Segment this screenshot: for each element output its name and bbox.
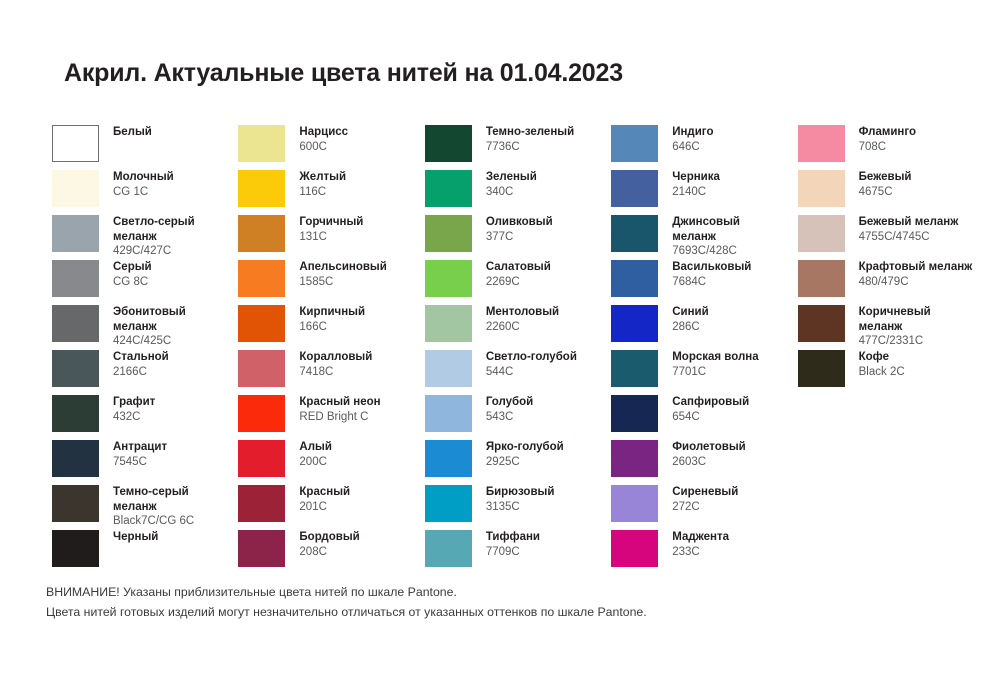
swatch-text: Синий286C	[672, 305, 708, 334]
swatch-text: Бирюзовый3135C	[486, 485, 555, 514]
color-swatch[interactable]	[611, 350, 658, 387]
column-greens: Темно-зеленый7736CЗеленый340CОливковый37…	[425, 125, 611, 575]
swatch-row[interactable]: Светло-голубой544C	[425, 350, 611, 395]
swatch-text: Оливковый377C	[486, 215, 553, 244]
color-swatch[interactable]	[425, 350, 472, 387]
disclaimer-line-2: Цвета нитей готовых изделий могут незнач…	[46, 602, 647, 622]
swatch-row[interactable]: Фламинго708C	[798, 125, 984, 170]
swatch-text: Фламинго708C	[859, 125, 916, 154]
swatch-text: Нарцисс600C	[299, 125, 348, 154]
swatch-row[interactable]: Голубой543C	[425, 395, 611, 440]
color-swatch[interactable]	[425, 395, 472, 432]
color-chart-page: Акрил. Актуальные цвета нитей на 01.04.2…	[0, 0, 1000, 683]
swatch-text: Кирпичный166C	[299, 305, 365, 334]
swatch-code: 480/479C	[859, 275, 973, 290]
swatch-text: КофеBlack 2C	[859, 350, 905, 379]
swatch-code: 7736C	[486, 140, 574, 155]
swatch-code: 116C	[299, 185, 346, 200]
color-swatch[interactable]	[238, 485, 285, 522]
swatch-name: Кирпичный	[299, 305, 365, 320]
color-swatch[interactable]	[798, 125, 845, 162]
swatch-text: Эбонитовый меланж424C/425C	[113, 305, 223, 349]
swatch-text: Зеленый340C	[486, 170, 537, 199]
color-swatch[interactable]	[798, 350, 845, 387]
swatch-name: Ментоловый	[486, 305, 559, 320]
swatch-name: Индиго	[672, 125, 713, 140]
swatch-text: Васильковый7684C	[672, 260, 751, 289]
color-swatch[interactable]	[52, 395, 99, 432]
swatch-text: Маджента233C	[672, 530, 729, 559]
swatch-code: 7709C	[486, 545, 540, 560]
swatch-name: Оливковый	[486, 215, 553, 230]
disclaimer-note: ВНИМАНИЕ! Указаны приблизительные цвета …	[46, 582, 647, 622]
swatch-name: Алый	[299, 440, 332, 455]
swatch-row[interactable]: Стальной2166C	[52, 350, 238, 395]
column-neutrals: БелыйМолочныйCG 1CСветло-серый меланж429…	[52, 125, 238, 575]
swatch-row[interactable]: Ментоловый2260C	[425, 305, 611, 350]
swatch-code: 2603C	[672, 455, 746, 470]
color-swatch[interactable]	[798, 170, 845, 207]
swatch-text: Графит432C	[113, 395, 155, 424]
swatch-row[interactable]: Графит432C	[52, 395, 238, 440]
swatch-row[interactable]: Оливковый377C	[425, 215, 611, 260]
swatch-text: Коралловый7418C	[299, 350, 372, 379]
swatch-row[interactable]: Темно-зеленый7736C	[425, 125, 611, 170]
color-swatch[interactable]	[425, 215, 472, 252]
swatch-code: 708C	[859, 140, 916, 155]
swatch-row[interactable]: Тиффани7709C	[425, 530, 611, 575]
swatch-text: Горчичный131C	[299, 215, 363, 244]
swatch-text: Антрацит7545C	[113, 440, 167, 469]
swatch-code: 7545C	[113, 455, 167, 470]
swatch-row[interactable]: Коралловый7418C	[238, 350, 424, 395]
swatch-row[interactable]: Черника2140C	[611, 170, 797, 215]
swatch-text: Бежевый4675C	[859, 170, 912, 199]
color-swatch[interactable]	[52, 305, 99, 342]
color-swatch[interactable]	[238, 215, 285, 252]
color-swatch[interactable]	[611, 125, 658, 162]
swatch-text: Светло-серый меланж429C/427C	[113, 215, 223, 259]
swatch-name: Сапфировый	[672, 395, 749, 410]
swatch-name: Бежевый меланж	[859, 215, 969, 230]
color-swatch[interactable]	[52, 125, 99, 162]
swatch-name: Желтый	[299, 170, 346, 185]
swatch-code: 208C	[299, 545, 359, 560]
swatch-row[interactable]: Белый	[52, 125, 238, 170]
swatch-name: Темно-зеленый	[486, 125, 574, 140]
color-swatch[interactable]	[611, 440, 658, 477]
swatch-row[interactable]: Салатовый2269C	[425, 260, 611, 305]
swatch-row[interactable]: Бежевый4675C	[798, 170, 984, 215]
color-swatch[interactable]	[798, 305, 845, 342]
swatch-code: 654C	[672, 410, 749, 425]
color-swatch[interactable]	[425, 260, 472, 297]
swatch-text: Голубой543C	[486, 395, 533, 424]
color-swatch[interactable]	[425, 305, 472, 342]
swatch-text: Красный неонRED Bright C	[299, 395, 380, 424]
swatch-name: Васильковый	[672, 260, 751, 275]
swatch-name: Светло-серый меланж	[113, 215, 223, 244]
swatch-row[interactable]: Светло-серый меланж429C/427C	[52, 215, 238, 260]
color-swatch[interactable]	[238, 395, 285, 432]
color-swatch[interactable]	[798, 260, 845, 297]
swatch-text: Тиффани7709C	[486, 530, 540, 559]
color-swatch[interactable]	[52, 170, 99, 207]
swatch-name: Фиолетовый	[672, 440, 746, 455]
color-swatch[interactable]	[611, 170, 658, 207]
swatch-name: Голубой	[486, 395, 533, 410]
column-blues: Индиго646CЧерника2140CДжинсовый меланж76…	[611, 125, 797, 575]
color-swatch[interactable]	[425, 440, 472, 477]
swatch-code: 2166C	[113, 365, 169, 380]
swatch-text: Крафтовый меланж480/479C	[859, 260, 973, 289]
swatch-code: 166C	[299, 320, 365, 335]
swatch-row[interactable]: Эбонитовый меланж424C/425C	[52, 305, 238, 350]
swatch-row[interactable]: Ярко-голубой2925C	[425, 440, 611, 485]
swatch-row[interactable]: Зеленый340C	[425, 170, 611, 215]
color-swatch[interactable]	[611, 395, 658, 432]
swatch-code: 477C/2331C	[859, 334, 969, 349]
swatch-name: Фламинго	[859, 125, 916, 140]
color-swatch[interactable]	[52, 485, 99, 522]
swatch-text: Темно-серый меланжBlack7C/CG 6C	[113, 485, 223, 529]
swatch-name: Молочный	[113, 170, 174, 185]
swatch-code: 543C	[486, 410, 533, 425]
swatch-name: Черный	[113, 530, 158, 545]
swatch-row[interactable]: Синий286C	[611, 305, 797, 350]
color-swatch[interactable]	[798, 215, 845, 252]
swatch-name: Бордовый	[299, 530, 359, 545]
swatch-row[interactable]: Джинсовый меланж7693C/428C	[611, 215, 797, 260]
swatch-name: Зеленый	[486, 170, 537, 185]
swatch-code: 2925C	[486, 455, 564, 470]
swatch-name: Бежевый	[859, 170, 912, 185]
swatch-name: Графит	[113, 395, 155, 410]
swatch-row[interactable]: Индиго646C	[611, 125, 797, 170]
swatch-code: Black7C/CG 6C	[113, 514, 223, 529]
swatch-code: 286C	[672, 320, 708, 335]
swatch-name: Горчичный	[299, 215, 363, 230]
swatch-code: 7684C	[672, 275, 751, 290]
swatch-name: Кофе	[859, 350, 905, 365]
swatch-text: Бордовый208C	[299, 530, 359, 559]
swatch-row[interactable]: Бирюзовый3135C	[425, 485, 611, 530]
swatch-row[interactable]: СерыйCG 8C	[52, 260, 238, 305]
swatch-text: МолочныйCG 1C	[113, 170, 174, 199]
color-swatch[interactable]	[52, 530, 99, 567]
swatch-name: Нарцисс	[299, 125, 348, 140]
swatch-row[interactable]: Маджента233C	[611, 530, 797, 575]
color-swatch[interactable]	[238, 530, 285, 567]
swatch-code: 233C	[672, 545, 729, 560]
swatch-name: Красный	[299, 485, 350, 500]
swatch-row[interactable]: Кирпичный166C	[238, 305, 424, 350]
swatch-code: 7701C	[672, 365, 758, 380]
swatch-code: 429C/427C	[113, 244, 223, 259]
column-skintones: Фламинго708CБежевый4675CБежевый меланж47…	[798, 125, 984, 575]
swatch-text: Апельсиновый1585C	[299, 260, 386, 289]
swatch-name: Тиффани	[486, 530, 540, 545]
swatch-code: 340C	[486, 185, 537, 200]
color-swatch[interactable]	[611, 215, 658, 252]
color-swatch[interactable]	[425, 485, 472, 522]
swatch-code: 201C	[299, 500, 350, 515]
swatch-code: CG 1C	[113, 185, 174, 200]
swatch-code: CG 8C	[113, 275, 152, 290]
swatch-text: Фиолетовый2603C	[672, 440, 746, 469]
swatch-code: 200C	[299, 455, 332, 470]
swatch-row[interactable]: Горчичный131C	[238, 215, 424, 260]
swatch-name: Эбонитовый меланж	[113, 305, 223, 334]
color-swatch[interactable]	[611, 305, 658, 342]
swatch-name: Коралловый	[299, 350, 372, 365]
swatch-code: 1585C	[299, 275, 386, 290]
swatch-text: Желтый116C	[299, 170, 346, 199]
swatch-name: Морская волна	[672, 350, 758, 365]
column-warm: Нарцисс600CЖелтый116CГорчичный131CАпельс…	[238, 125, 424, 575]
swatch-text: Сапфировый654C	[672, 395, 749, 424]
swatch-name: Черника	[672, 170, 720, 185]
swatch-text: Темно-зеленый7736C	[486, 125, 574, 154]
swatch-text: Стальной2166C	[113, 350, 169, 379]
color-swatch[interactable]	[611, 530, 658, 567]
swatch-code: 4755C/4745C	[859, 230, 969, 245]
swatch-text: Морская волна7701C	[672, 350, 758, 379]
swatch-code: 7693C/428C	[672, 244, 782, 259]
swatch-name: Белый	[113, 125, 152, 140]
color-swatch[interactable]	[425, 530, 472, 567]
swatch-code: 272C	[672, 500, 738, 515]
swatch-code: 432C	[113, 410, 155, 425]
swatch-name: Джинсовый меланж	[672, 215, 782, 244]
swatch-row[interactable]: Сапфировый654C	[611, 395, 797, 440]
swatch-name: Ярко-голубой	[486, 440, 564, 455]
swatch-code: 377C	[486, 230, 553, 245]
swatch-name: Серый	[113, 260, 152, 275]
color-swatch[interactable]	[425, 170, 472, 207]
color-swatch[interactable]	[52, 350, 99, 387]
swatch-row[interactable]: Коричневый меланж477C/2331C	[798, 305, 984, 350]
color-swatch[interactable]	[238, 170, 285, 207]
disclaimer-line-1: ВНИМАНИЕ! Указаны приблизительные цвета …	[46, 582, 647, 602]
swatch-row[interactable]: Красный201C	[238, 485, 424, 530]
swatch-row[interactable]: Красный неонRED Bright C	[238, 395, 424, 440]
swatch-text: Ментоловый2260C	[486, 305, 559, 334]
swatch-row[interactable]: Васильковый7684C	[611, 260, 797, 305]
swatch-code: 2140C	[672, 185, 720, 200]
color-swatch[interactable]	[52, 440, 99, 477]
swatch-text: Ярко-голубой2925C	[486, 440, 564, 469]
swatch-row[interactable]: Нарцисс600C	[238, 125, 424, 170]
swatch-row[interactable]: Апельсиновый1585C	[238, 260, 424, 305]
swatch-code: 2260C	[486, 320, 559, 335]
page-title: Акрил. Актуальные цвета нитей на 01.04.2…	[64, 59, 623, 88]
swatch-code: Black 2C	[859, 365, 905, 380]
swatch-row[interactable]: Бордовый208C	[238, 530, 424, 575]
swatch-text: СерыйCG 8C	[113, 260, 152, 289]
swatch-text: Белый	[113, 125, 152, 140]
swatch-text: Алый200C	[299, 440, 332, 469]
swatch-row[interactable]: Крафтовый меланж480/479C	[798, 260, 984, 305]
swatch-text: Сиреневый272C	[672, 485, 738, 514]
swatch-text: Светло-голубой544C	[486, 350, 577, 379]
swatch-row[interactable]: Желтый116C	[238, 170, 424, 215]
swatch-code: 131C	[299, 230, 363, 245]
swatch-text: Бежевый меланж4755C/4745C	[859, 215, 969, 244]
swatch-text: Красный201C	[299, 485, 350, 514]
color-swatch[interactable]	[52, 215, 99, 252]
swatch-text: Салатовый2269C	[486, 260, 551, 289]
swatch-name: Стальной	[113, 350, 169, 365]
swatch-name: Сиреневый	[672, 485, 738, 500]
swatch-row[interactable]: Бежевый меланж4755C/4745C	[798, 215, 984, 260]
swatch-row[interactable]: МолочныйCG 1C	[52, 170, 238, 215]
color-swatch[interactable]	[425, 125, 472, 162]
swatch-row[interactable]: Антрацит7545C	[52, 440, 238, 485]
swatch-name: Салатовый	[486, 260, 551, 275]
swatch-name: Крафтовый меланж	[859, 260, 973, 275]
swatch-code: 424C/425C	[113, 334, 223, 349]
color-swatch[interactable]	[238, 260, 285, 297]
swatch-row[interactable]: Морская волна7701C	[611, 350, 797, 395]
swatch-code: 2269C	[486, 275, 551, 290]
swatch-name: Бирюзовый	[486, 485, 555, 500]
swatch-code: 4675C	[859, 185, 912, 200]
swatch-name: Антрацит	[113, 440, 167, 455]
swatch-text: Джинсовый меланж7693C/428C	[672, 215, 782, 259]
swatch-text: Черный	[113, 530, 158, 545]
swatch-grid: БелыйМолочныйCG 1CСветло-серый меланж429…	[52, 125, 984, 575]
color-swatch[interactable]	[611, 260, 658, 297]
swatch-name: Темно-серый меланж	[113, 485, 223, 514]
swatch-name: Коричневый меланж	[859, 305, 969, 334]
color-swatch[interactable]	[238, 125, 285, 162]
swatch-name: Маджента	[672, 530, 729, 545]
swatch-code: 7418C	[299, 365, 372, 380]
swatch-code: RED Bright C	[299, 410, 380, 425]
swatch-code: 544C	[486, 365, 577, 380]
color-swatch[interactable]	[611, 485, 658, 522]
swatch-row[interactable]: Темно-серый меланжBlack7C/CG 6C	[52, 485, 238, 530]
color-swatch[interactable]	[238, 350, 285, 387]
swatch-row[interactable]: Черный	[52, 530, 238, 575]
swatch-code: 600C	[299, 140, 348, 155]
color-swatch[interactable]	[238, 305, 285, 342]
swatch-row[interactable]: КофеBlack 2C	[798, 350, 984, 395]
swatch-text: Индиго646C	[672, 125, 713, 154]
color-swatch[interactable]	[52, 260, 99, 297]
swatch-name: Светло-голубой	[486, 350, 577, 365]
swatch-row[interactable]: Сиреневый272C	[611, 485, 797, 530]
swatch-row[interactable]: Алый200C	[238, 440, 424, 485]
color-swatch[interactable]	[238, 440, 285, 477]
swatch-code: 3135C	[486, 500, 555, 515]
swatch-name: Синий	[672, 305, 708, 320]
swatch-text: Черника2140C	[672, 170, 720, 199]
swatch-name: Апельсиновый	[299, 260, 386, 275]
swatch-name: Красный неон	[299, 395, 380, 410]
swatch-text: Коричневый меланж477C/2331C	[859, 305, 969, 349]
swatch-row[interactable]: Фиолетовый2603C	[611, 440, 797, 485]
swatch-code: 646C	[672, 140, 713, 155]
